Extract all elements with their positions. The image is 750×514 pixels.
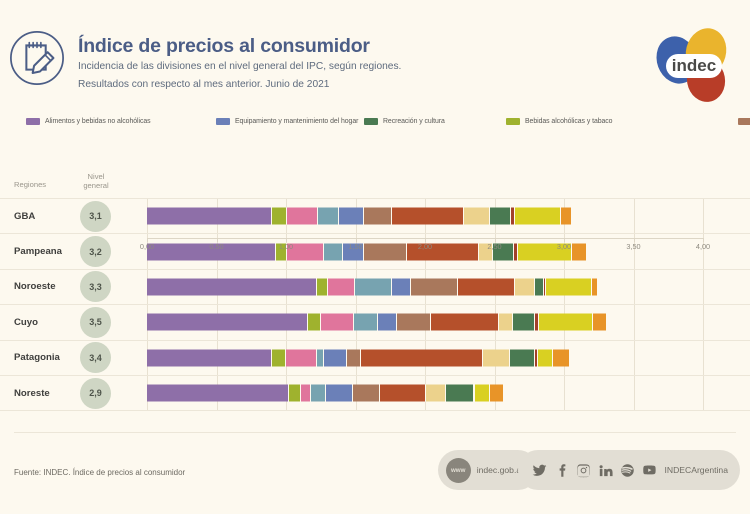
chart-area: Regiones Nivel general GBA3,1Pampeana3,2… bbox=[0, 168, 750, 408]
nivel-general-line1: Nivel bbox=[78, 172, 114, 181]
legend-item: Equipamiento y mantenimiento del hogar bbox=[216, 115, 364, 129]
region-label: Pampeana bbox=[14, 246, 62, 257]
bar-segment bbox=[317, 278, 328, 295]
bar-segment bbox=[464, 208, 490, 225]
stacked-bar bbox=[147, 314, 606, 331]
page-title: Índice de precios al consumidor bbox=[78, 36, 401, 57]
bar-segment bbox=[361, 349, 483, 366]
gridline bbox=[634, 199, 635, 233]
bar-segment bbox=[321, 314, 354, 331]
bar-segment bbox=[553, 349, 570, 366]
bar-segment bbox=[147, 385, 289, 402]
gridline bbox=[634, 376, 635, 410]
bar-segment bbox=[354, 314, 378, 331]
bar-segment bbox=[510, 349, 535, 366]
facebook-icon[interactable] bbox=[554, 463, 569, 478]
gridline bbox=[634, 270, 635, 304]
bar-segment bbox=[411, 278, 458, 295]
source-note: Fuente: INDEC. Índice de precios al cons… bbox=[14, 468, 185, 477]
gridline bbox=[703, 341, 704, 375]
legend-label: Equipamiento y mantenimiento del hogar bbox=[235, 118, 358, 125]
axis-tick-label: 1,00 bbox=[279, 242, 293, 251]
legend-label: Recreación y cultura bbox=[383, 118, 445, 125]
nivel-general-line2: general bbox=[78, 181, 114, 190]
axis-tick-label: 3,00 bbox=[557, 242, 571, 251]
bar-segment bbox=[546, 278, 592, 295]
x-axis: 0,000,501,001,502,002,503,003,504,00 bbox=[147, 238, 703, 258]
bar-segment bbox=[490, 385, 503, 402]
bar-segment bbox=[289, 385, 302, 402]
bar-segment bbox=[147, 278, 317, 295]
page-footer: Fuente: INDEC. Índice de precios al cons… bbox=[0, 432, 750, 514]
website-url: indec.gob.ar bbox=[477, 465, 524, 475]
instagram-icon[interactable] bbox=[576, 463, 591, 478]
bar-segment bbox=[513, 314, 535, 331]
gridline bbox=[703, 199, 704, 233]
bar-segment bbox=[539, 314, 593, 331]
bar-segment bbox=[446, 385, 474, 402]
bar-segment bbox=[490, 208, 511, 225]
bar-segment bbox=[392, 278, 411, 295]
axis-tick-label: 0,00 bbox=[140, 242, 154, 251]
legend-label: Alimentos y bebidas no alcohólicas bbox=[45, 118, 151, 125]
bar-segment bbox=[426, 385, 445, 402]
indec-logo: indec bbox=[644, 22, 740, 106]
legend-swatch bbox=[216, 118, 230, 125]
title-block: Índice de precios al consumidor Incidenc… bbox=[78, 36, 401, 92]
footer-divider bbox=[14, 432, 736, 433]
nivel-general-value: 3,2 bbox=[80, 236, 111, 267]
axis-tick-label: 1,50 bbox=[348, 242, 362, 251]
bar-segment bbox=[458, 278, 515, 295]
bar-segment bbox=[328, 278, 356, 295]
nivel-general-value: 3,5 bbox=[80, 307, 111, 338]
bar-segment bbox=[499, 314, 513, 331]
gridline bbox=[703, 376, 704, 410]
region-label: GBA bbox=[14, 211, 35, 222]
bar-segment bbox=[286, 349, 317, 366]
bar-segment bbox=[515, 278, 534, 295]
plot-area bbox=[147, 270, 703, 304]
nivel-general-value: 3,3 bbox=[80, 271, 111, 302]
legend-item: Alimentos y bebidas no alcohólicas bbox=[26, 115, 216, 129]
legend-swatch bbox=[738, 118, 750, 125]
logo-text: indec bbox=[672, 56, 716, 75]
plot-area bbox=[147, 376, 703, 410]
linkedin-icon[interactable] bbox=[598, 463, 613, 478]
plot-area bbox=[147, 199, 703, 233]
gridline bbox=[703, 305, 704, 339]
gridline bbox=[564, 376, 565, 410]
social-badge[interactable]: INDECArgentina bbox=[518, 450, 740, 490]
bar-segment bbox=[318, 208, 339, 225]
bar-segment bbox=[515, 208, 561, 225]
gridline bbox=[634, 341, 635, 375]
gridline bbox=[703, 270, 704, 304]
bar-segment bbox=[593, 314, 606, 331]
plot-area bbox=[147, 305, 703, 339]
spotify-icon[interactable] bbox=[620, 463, 635, 478]
bar-segment bbox=[147, 208, 272, 225]
legend-swatch bbox=[364, 118, 378, 125]
axis-tick-label: 0,50 bbox=[209, 242, 223, 251]
bar-segment bbox=[364, 208, 392, 225]
bar-segment bbox=[397, 314, 430, 331]
bar-segment bbox=[272, 208, 287, 225]
bar-segment bbox=[538, 349, 553, 366]
bar-segment bbox=[561, 208, 571, 225]
region-label: Patagonia bbox=[14, 352, 60, 363]
bar-segment bbox=[431, 314, 499, 331]
axis-tick-label: 2,50 bbox=[487, 242, 501, 251]
bar-segment bbox=[392, 208, 464, 225]
chart-row: Patagonia3,4 bbox=[0, 340, 750, 375]
bar-segment bbox=[483, 349, 509, 366]
page-subtitle-line2: Resultados con respecto al mes anterior.… bbox=[78, 75, 401, 92]
bar-segment bbox=[287, 208, 318, 225]
twitter-icon[interactable] bbox=[532, 463, 547, 478]
legend-swatch bbox=[26, 118, 40, 125]
stacked-bar bbox=[147, 385, 503, 402]
notepad-pencil-icon bbox=[8, 28, 66, 88]
bar-segment bbox=[347, 349, 361, 366]
social-handle: INDECArgentina bbox=[664, 465, 728, 475]
bar-segment bbox=[308, 314, 321, 331]
youtube-icon[interactable] bbox=[642, 463, 657, 478]
www-icon: www bbox=[446, 458, 471, 483]
bar-segment bbox=[311, 385, 326, 402]
stacked-bar bbox=[147, 278, 597, 295]
bar-segment bbox=[353, 385, 381, 402]
axis-tick-label: 4,00 bbox=[696, 242, 710, 251]
bar-segment bbox=[147, 349, 272, 366]
plot-area bbox=[147, 341, 703, 375]
chart-row: Noreste2,9 bbox=[0, 375, 750, 411]
legend-swatch bbox=[506, 118, 520, 125]
bar-segment bbox=[355, 278, 391, 295]
legend-label: Bebidas alcohólicas y tabaco bbox=[525, 118, 612, 125]
bar-segment bbox=[317, 349, 324, 366]
bar-segment bbox=[301, 385, 311, 402]
nivel-general-value: 2,9 bbox=[80, 378, 111, 409]
bar-segment bbox=[339, 208, 364, 225]
legend-item: Recreación y cultura bbox=[364, 115, 506, 129]
gridline bbox=[634, 305, 635, 339]
legend-item: Salud bbox=[738, 115, 750, 129]
region-label: Noreste bbox=[14, 388, 50, 399]
region-label: Cuyo bbox=[14, 317, 38, 328]
page-subtitle-line1: Incidencia de las divisiones en el nivel… bbox=[78, 57, 401, 74]
bar-segment bbox=[535, 278, 545, 295]
chart-legend: Alimentos y bebidas no alcohólicasEquipa… bbox=[26, 115, 738, 129]
chart-row: Cuyo3,5 bbox=[0, 304, 750, 339]
bar-segment bbox=[378, 314, 397, 331]
bar-segment bbox=[326, 385, 352, 402]
legend-item: Bebidas alcohólicas y tabaco bbox=[506, 115, 738, 129]
axis-tick-label: 2,00 bbox=[418, 242, 432, 251]
bar-segment bbox=[592, 278, 598, 295]
stacked-bar bbox=[147, 208, 571, 225]
chart-row: Noroeste3,3 bbox=[0, 269, 750, 304]
stacked-bar bbox=[147, 349, 569, 366]
nivel-general-value: 3,4 bbox=[80, 342, 111, 373]
page-header: Índice de precios al consumidor Incidenc… bbox=[0, 0, 750, 108]
bar-segment bbox=[147, 314, 308, 331]
bar-segment bbox=[324, 349, 348, 366]
bar-segment bbox=[380, 385, 426, 402]
region-label: Noroeste bbox=[14, 281, 56, 292]
chart-row: GBA3,1 bbox=[0, 198, 750, 233]
nivel-general-value: 3,1 bbox=[80, 201, 111, 232]
bar-segment bbox=[272, 349, 286, 366]
axis-tick-label: 3,50 bbox=[626, 242, 640, 251]
bar-segment bbox=[475, 385, 490, 402]
